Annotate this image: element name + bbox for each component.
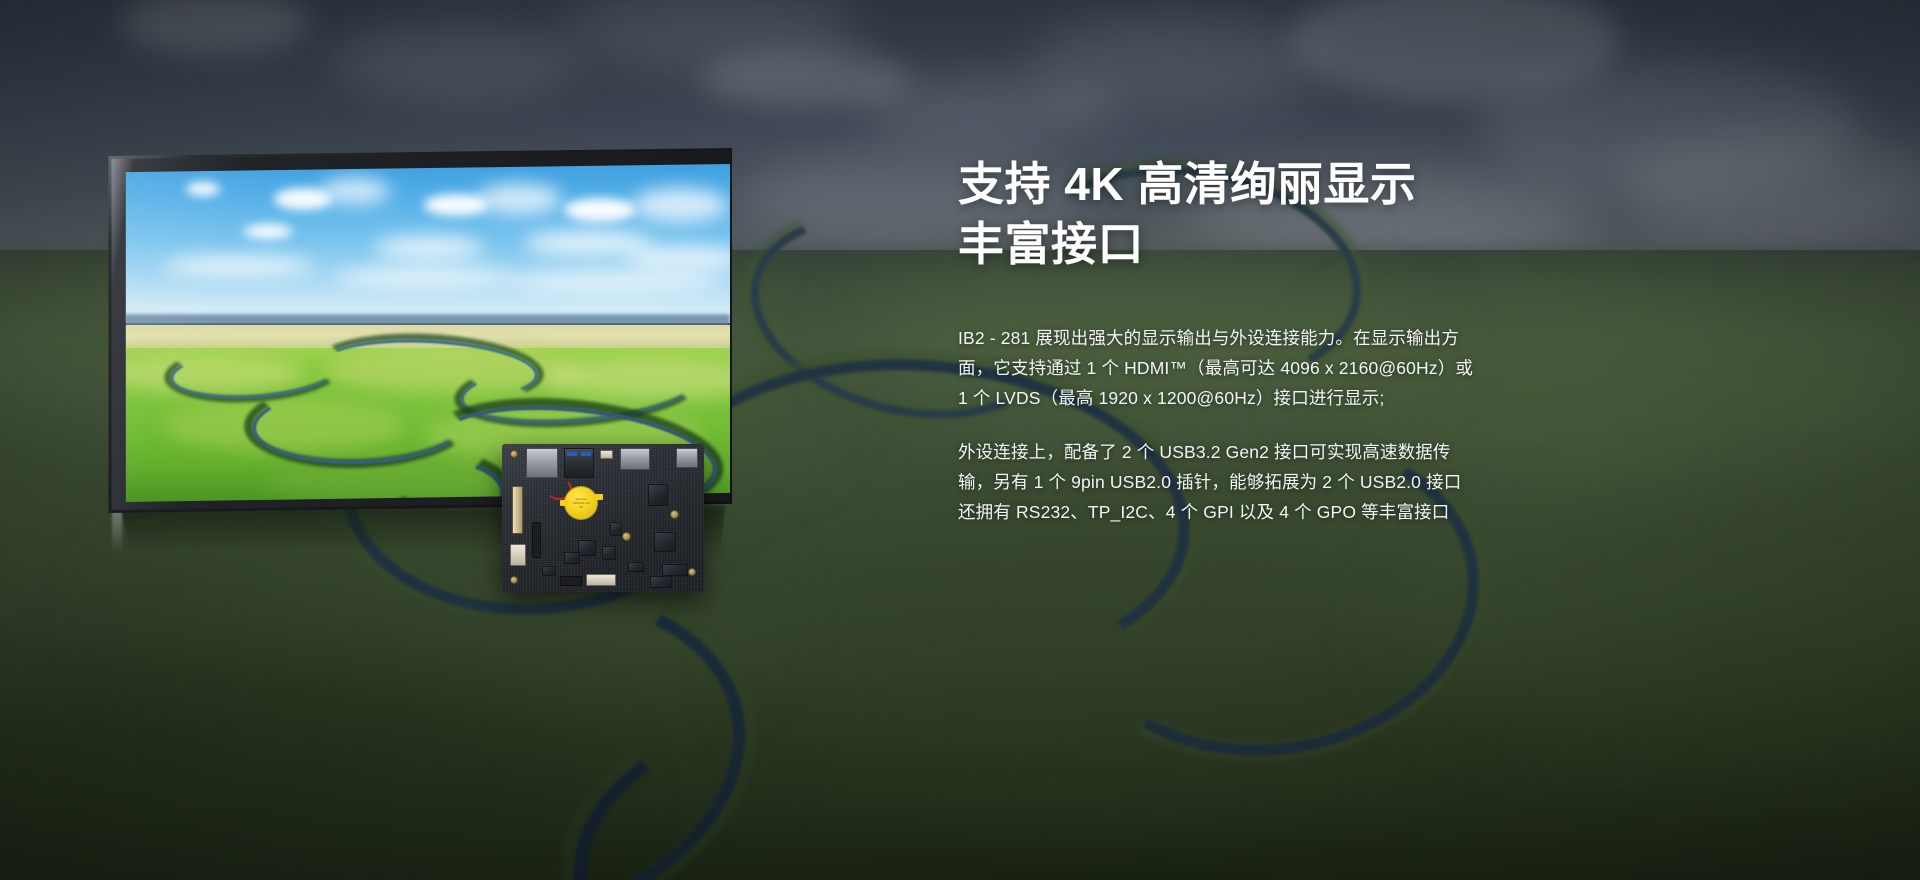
battery-tab bbox=[560, 500, 568, 506]
usb3-blue-insert bbox=[567, 452, 577, 456]
fan-connector bbox=[600, 450, 613, 459]
controller-chip bbox=[578, 540, 596, 556]
mounting-screw bbox=[510, 450, 518, 458]
flash-chip bbox=[564, 552, 580, 564]
regulator-chip bbox=[610, 522, 622, 536]
rj45-ethernet-port bbox=[526, 448, 558, 478]
mounting-screw bbox=[510, 576, 518, 584]
capacitor-bank bbox=[662, 564, 688, 576]
lvds-edge-connector bbox=[512, 486, 523, 534]
mounting-screw bbox=[622, 532, 631, 541]
io-connector bbox=[586, 574, 616, 586]
headline-line-2: 丰富接口 bbox=[958, 215, 1590, 275]
description-paragraph-2: 外设连接上，配备了 2 个 USB3.2 Gen2 接口可实现高速数据传输，另有… bbox=[958, 437, 1478, 527]
soc-chip bbox=[648, 484, 668, 506]
tv-edge-highlight bbox=[112, 508, 122, 552]
mounting-screw bbox=[670, 510, 679, 519]
lvds-connector bbox=[510, 544, 526, 566]
marketing-copy-panel: 支持 4K 高清绚丽显示 丰富接口 IB2 - 281 展现出强大的显示输出与外… bbox=[958, 155, 1590, 527]
headline-line-1: 支持 4K 高清绚丽显示 bbox=[958, 155, 1590, 215]
memory-chip bbox=[654, 532, 676, 552]
battery-voltage-label: 3V bbox=[579, 505, 583, 509]
capacitor-bank bbox=[628, 562, 644, 572]
gpio-header bbox=[560, 576, 582, 586]
usb3-blue-insert bbox=[581, 452, 591, 456]
battery-tab bbox=[595, 494, 603, 500]
mounting-screw bbox=[688, 568, 696, 576]
page-title: 支持 4K 高清绚丽显示 丰富接口 bbox=[958, 155, 1590, 275]
banner-stage: Spartan CR2032-1N 3V 支持 4K 高清绚丽显示 丰富接口 bbox=[0, 0, 1920, 880]
hdmi-port bbox=[620, 448, 650, 470]
coin-cell-battery: Spartan CR2032-1N 3V bbox=[564, 486, 598, 520]
controller-chip bbox=[602, 546, 616, 560]
audio-jack bbox=[650, 576, 672, 588]
single-board-computer: Spartan CR2032-1N 3V bbox=[502, 444, 704, 592]
description-block: IB2 - 281 展现出强大的显示输出与外设连接能力。在显示输出方面，它支持通… bbox=[958, 323, 1590, 528]
sd-card-slot bbox=[676, 448, 698, 468]
description-paragraph-1: IB2 - 281 展现出强大的显示输出与外设连接能力。在显示输出方面，它支持通… bbox=[958, 323, 1478, 413]
capacitor-bank bbox=[542, 566, 556, 576]
pin-header bbox=[532, 522, 541, 558]
